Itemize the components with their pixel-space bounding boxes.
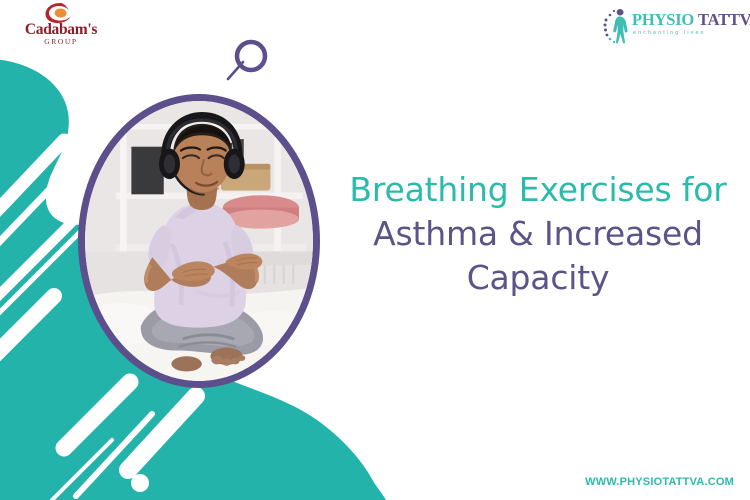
cadabams-logo: Cadabam's GROUP [18, 2, 104, 46]
pt-word-physio: PHYSIO [632, 10, 694, 29]
headline-line-3: Capacity [336, 256, 740, 300]
physio-tattva-tagline: enchanting lives [633, 31, 705, 36]
pt-word-tattva: TATTVA [698, 10, 750, 29]
magnifier-circle-icon [222, 38, 272, 84]
headline-line-1: Breathing Exercises for [336, 168, 740, 212]
cadabams-wordmark: Cadabam's [18, 22, 104, 38]
portrait-circle [78, 94, 320, 388]
headline-block: Breathing Exercises for Asthma & Increas… [336, 168, 740, 301]
cadabams-subtitle: GROUP [18, 38, 104, 46]
physio-tattva-wordmark: PHYSIO TATTVA [632, 12, 750, 29]
teal-swoosh-tail [150, 414, 386, 500]
banner-root: Cadabam's GROUP PHYSIO TATTVA [0, 0, 750, 500]
website-url[interactable]: WWW.PHYSIOTATTVA.COM [585, 476, 734, 488]
physio-tattva-figure-icon [602, 6, 632, 44]
physio-tattva-logo: PHYSIO TATTVA enchanting lives [602, 6, 734, 46]
white-stripes-right [128, 396, 196, 470]
white-dot [131, 474, 149, 492]
portrait-image [85, 101, 313, 381]
headline-line-2: Asthma & Increased [336, 212, 740, 256]
